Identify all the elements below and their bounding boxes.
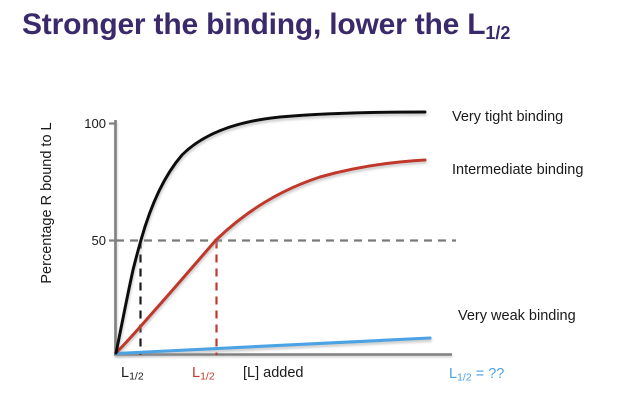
curve-label-very-tight-binding: Very tight binding <box>452 109 563 125</box>
x-annotation-l-half-blue: L1/2 = ?? <box>449 366 504 384</box>
l-half-black-subscript: 1/2 <box>129 371 144 383</box>
curve-intermediate-binding <box>116 160 425 353</box>
page-title-text: Stronger the binding, lower the L <box>22 8 485 41</box>
binding-curve-figure: Percentage R bound to L 100 50 Very tigh… <box>0 62 644 414</box>
curve-label-very-weak-binding: Very weak binding <box>458 308 576 324</box>
l-half-blue-base: L <box>449 366 457 382</box>
l-half-blue-suffix: = ?? <box>472 366 505 382</box>
page-title: Stronger the binding, lower the L1/2 <box>22 8 632 44</box>
y-axis-title: Percentage R bound to L <box>39 98 55 308</box>
l-half-red-base: L <box>192 365 200 381</box>
curve-very-weak-binding <box>116 338 430 354</box>
x-axis-title: [L] added <box>243 365 303 381</box>
l-half-black-base: L <box>121 365 129 381</box>
y-tick-label-100: 100 <box>62 116 106 131</box>
l-half-blue-subscript: 1/2 <box>457 372 472 384</box>
page-title-subscript: 1/2 <box>485 23 510 43</box>
curve-label-intermediate-binding: Intermediate binding <box>452 162 583 178</box>
l-half-red-subscript: 1/2 <box>200 371 215 383</box>
curves-group <box>116 112 430 354</box>
curve-very-tight-binding <box>116 112 425 353</box>
y-tick-label-50: 50 <box>62 233 106 248</box>
axes-group <box>114 120 452 356</box>
x-annotation-l-half-black: L1/2 <box>121 365 144 383</box>
x-annotation-l-half-red: L1/2 <box>192 365 215 383</box>
